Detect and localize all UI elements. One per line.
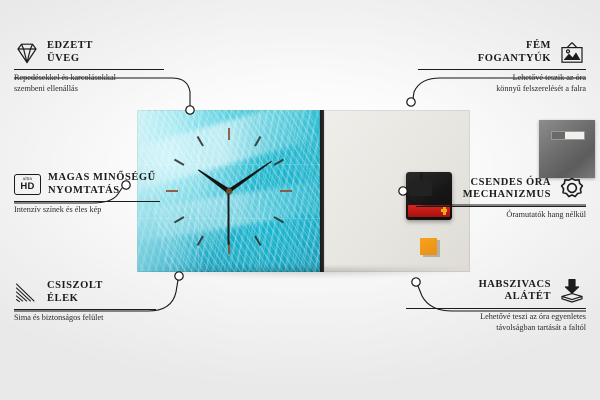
feature-title: CSISZOLT ÉLEK: [47, 280, 103, 305]
clock-tick: [273, 216, 284, 223]
feature-title: MAGAS MINŐSÉGŰ NYOMTATÁS: [48, 172, 156, 197]
clock-center-pin: [226, 188, 232, 194]
feature-description: Intenzív színek és éles kép: [14, 205, 160, 216]
ultra-hd-badge-icon: ultra HD: [14, 174, 41, 195]
gear-icon: [558, 176, 586, 202]
feature-silent-mechanism: CSENDES ÓRA MECHANIZMUS Óramutatók hang …: [416, 176, 586, 221]
clock-second-hand: [228, 191, 230, 245]
feature-title: CSENDES ÓRA MECHANIZMUS: [463, 177, 551, 202]
foam-spacer-pad: [420, 238, 437, 255]
infographic-canvas: EDZETT ÜVEG Repedésekkel és karcolásokka…: [0, 0, 600, 400]
wall-frame-hook-icon: [558, 41, 586, 65]
feature-header: ultra HD MAGAS MINŐSÉGŰ NYOMTATÁS: [14, 172, 160, 197]
feature-description: Lehetővé teszi az óra egyenletes távolsá…: [406, 312, 586, 333]
metal-hanger-plate: [539, 120, 595, 178]
feature-description: Repedésekkel és karcolásokkal szembeni e…: [14, 73, 164, 94]
press-pad-icon: [558, 278, 586, 304]
clock-tick: [228, 128, 230, 140]
feature-divider: [406, 308, 586, 309]
clock-tick: [166, 190, 178, 192]
diamond-icon: [14, 42, 40, 64]
clock-front-panel: [137, 110, 320, 272]
clock-hour-hand: [197, 168, 230, 193]
feature-description: Óramutatók hang nélkül: [416, 210, 586, 221]
feature-divider: [416, 206, 586, 207]
clock-face: [137, 110, 320, 272]
product-shadow: [134, 268, 476, 278]
feature-polished-edges: CSISZOLT ÉLEK Sima és biztonságos felüle…: [14, 280, 156, 324]
feature-divider: [418, 69, 586, 70]
feature-title: HABSZIVACS ALÁTÉT: [479, 279, 551, 304]
feature-divider: [14, 69, 164, 70]
clock-tick: [196, 136, 203, 147]
clock-tick: [254, 136, 261, 147]
feature-header: CSISZOLT ÉLEK: [14, 280, 156, 305]
feature-title: EDZETT ÜVEG: [47, 40, 93, 65]
feature-title: FÉM FOGANTYÚK: [478, 40, 551, 65]
polished-edge-icon: [14, 282, 40, 304]
clock-tick: [173, 159, 184, 166]
clock-tick: [196, 236, 203, 247]
feature-tempered-glass: EDZETT ÜVEG Repedésekkel és karcolásokka…: [14, 40, 164, 94]
feature-description: Sima és biztonságos felület: [14, 313, 156, 324]
feature-foam-backing: HABSZIVACS ALÁTÉT Lehetővé teszi az óra …: [406, 278, 586, 333]
feature-header: FÉM FOGANTYÚK: [418, 40, 586, 65]
feature-divider: [14, 201, 160, 202]
feature-header: EDZETT ÜVEG: [14, 40, 164, 65]
feature-high-quality-print: ultra HD MAGAS MINŐSÉGŰ NYOMTATÁS Intenz…: [14, 172, 160, 216]
feature-divider: [14, 309, 156, 310]
connector-dot: [407, 98, 415, 106]
clock-minute-hand: [227, 160, 272, 193]
clock-tick: [254, 236, 261, 247]
badge-main-label: HD: [20, 182, 34, 192]
clock-tick: [280, 190, 292, 192]
clock-tick: [273, 159, 284, 166]
feature-header: HABSZIVACS ALÁTÉT: [406, 278, 586, 304]
feature-header: CSENDES ÓRA MECHANIZMUS: [416, 176, 586, 202]
feature-description: Lehetővé teszik az óra könnyű felszerelé…: [418, 73, 586, 94]
feature-metal-handles: FÉM FOGANTYÚK Lehetővé teszik az óra kön…: [418, 40, 586, 94]
clock-tick: [173, 216, 184, 223]
